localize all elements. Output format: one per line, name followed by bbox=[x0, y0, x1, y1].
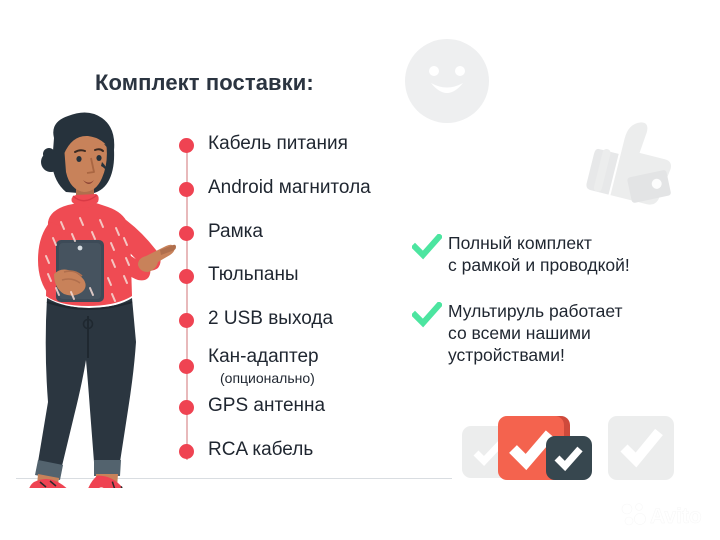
bullet-dot bbox=[179, 400, 194, 415]
smiley-face-icon bbox=[404, 38, 490, 124]
feature-line-2: с рамкой и проводкой! bbox=[448, 254, 630, 276]
list-item-label: Кан-адаптер bbox=[208, 346, 319, 368]
list-item-label: Кабель питания bbox=[208, 133, 348, 155]
list-item-label: Android магнитола bbox=[208, 177, 371, 199]
list-item-label: Рамка bbox=[208, 221, 263, 243]
woman-pointing-illustration bbox=[16, 110, 186, 488]
avito-wordmark: Avito bbox=[650, 505, 702, 528]
green-check-icon bbox=[412, 302, 442, 328]
checkbox-card-grey-right bbox=[608, 416, 674, 480]
feature-line-3: устройствами! bbox=[448, 344, 565, 366]
bullet-dot bbox=[179, 269, 194, 284]
bullet-dot bbox=[179, 359, 194, 374]
thumbs-up-icon bbox=[578, 112, 690, 222]
slide-canvas: Комплект поставки: Кабель питания Androi… bbox=[0, 0, 720, 540]
list-item-label: GPS антенна bbox=[208, 395, 325, 417]
avito-watermark: Avito bbox=[620, 500, 712, 528]
list-item-label: 2 USB выхода bbox=[208, 308, 333, 330]
checkbox-card-dark bbox=[546, 436, 592, 480]
list-item-sublabel: (опционально) bbox=[220, 370, 315, 386]
green-check-icon bbox=[412, 234, 442, 260]
page-title: Комплект поставки: bbox=[95, 70, 314, 96]
bullet-dot bbox=[179, 182, 194, 197]
delivery-contents-list: Кабель питания Android магнитола Рамка Т… bbox=[178, 130, 428, 460]
list-item-label: Тюльпаны bbox=[208, 264, 299, 286]
feature-line-1: Мультируль работает bbox=[448, 300, 623, 322]
feature-line-1: Полный комплект bbox=[448, 232, 592, 254]
bullet-dot bbox=[179, 138, 194, 153]
list-item-label: RCA кабель bbox=[208, 439, 313, 461]
bullet-dot bbox=[179, 313, 194, 328]
bullet-dot bbox=[179, 226, 194, 241]
feature-line-2: со всеми нашими bbox=[448, 322, 591, 344]
checkbox-cards-decor bbox=[462, 414, 686, 478]
bullet-dot bbox=[179, 444, 194, 459]
